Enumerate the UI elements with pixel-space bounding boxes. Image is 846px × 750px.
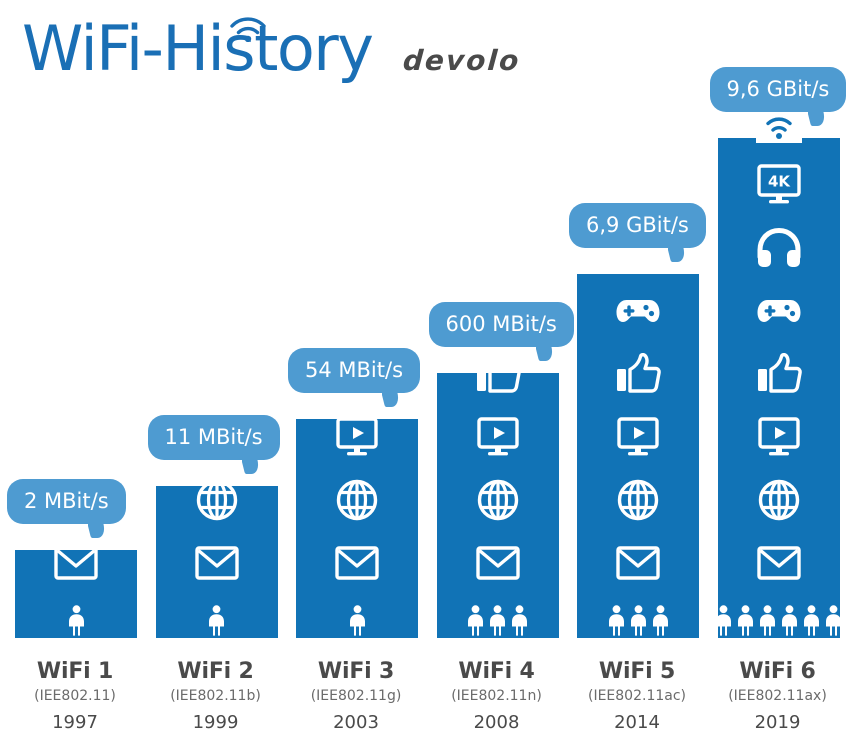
mail-icon [335,531,379,594]
bubble-tail [382,389,404,411]
speed-label: 600 MBit/s [446,312,557,336]
bubble-tail [88,520,110,542]
bar-icon-stack [15,550,137,594]
speed-bubble-wifi-2: 11 MBit/s [148,415,280,460]
category-label: WiFi 1 [5,658,145,686]
mail-icon [476,531,520,594]
person-icon [629,605,648,636]
user-count-row [577,605,699,636]
svg-text:4K: 4K [767,172,790,190]
category-label: WiFi 2 [146,658,286,686]
globe-icon [758,468,800,531]
standard-label: (IEE802.11b) [146,685,286,709]
person-icon [67,605,86,636]
person-icon [488,605,507,636]
person-icon [466,605,485,636]
video-monitor-icon [335,405,379,468]
bubble-tail [536,343,558,365]
user-count-row [718,605,840,636]
thumbs-up-icon [756,342,802,405]
user-count-row [437,605,559,636]
mail-icon [616,531,660,594]
headphones-icon [756,216,802,279]
video-monitor-icon [757,405,801,468]
category-label: WiFi 6 [708,658,846,686]
speed-bubble-wifi-1: 2 MBit/s [7,479,126,524]
user-count-row [156,605,278,636]
thumbs-up-icon [475,342,521,405]
video-monitor-icon [616,405,660,468]
wifi-history-bar-chart: 2 MBit/sWiFi 1(IEE802.11)1997 11 MBit/sW… [0,0,846,750]
speed-label: 6,9 GBit/s [586,213,689,237]
category-label: WiFi 4 [427,658,567,686]
speed-label: 54 MBit/s [305,358,403,382]
bar-icon-stack [296,419,418,594]
bar-wifi-6[interactable]: 4K [718,138,840,638]
standard-label: (IEE802.11ac) [567,685,707,709]
person-icon [510,605,529,636]
mail-icon [195,531,239,594]
year-label: 2014 [567,709,707,736]
bar-wifi-4[interactable] [437,373,559,638]
bar-wifi-3[interactable] [296,419,418,638]
bar-icon-stack [156,486,278,594]
year-label: 2003 [286,709,426,736]
person-icon [780,605,799,636]
bubble-tail [668,244,690,266]
speed-bubble-wifi-6: 9,6 GBit/s [710,67,846,112]
standard-label: (IEE802.11ax) [708,685,846,709]
category-label: WiFi 5 [567,658,707,686]
axis-label-group: WiFi 3(IEE802.11g)2003 [286,658,426,736]
person-icon [824,605,843,636]
speed-bubble-wifi-4: 600 MBit/s [429,302,574,347]
bubble-tail [242,456,264,478]
year-label: 1999 [146,709,286,736]
tv-4k-icon: 4K [756,153,802,216]
gamepad-icon [614,279,662,342]
standard-label: (IEE802.11) [5,685,145,709]
user-count-row [15,605,137,636]
axis-label-group: WiFi 4(IEE802.11n)2008 [427,658,567,736]
speed-label: 9,6 GBit/s [727,77,830,101]
person-icon [736,605,755,636]
bar-wifi-1[interactable] [15,550,137,638]
bubble-tail [808,108,830,130]
speed-bubble-wifi-5: 6,9 GBit/s [569,203,706,248]
standard-label: (IEE802.11n) [427,685,567,709]
globe-icon [196,468,238,531]
year-label: 2008 [427,709,567,736]
person-icon [348,605,367,636]
axis-label-group: WiFi 5(IEE802.11ac)2014 [567,658,707,736]
person-icon [802,605,821,636]
axis-label-group: WiFi 6(IEE802.11ax)2019 [708,658,846,736]
globe-icon [336,468,378,531]
globe-icon [617,468,659,531]
person-icon [714,605,733,636]
person-icon [651,605,670,636]
bar-icon-stack: 4K [718,138,840,594]
video-monitor-icon [476,405,520,468]
speed-bubble-wifi-3: 54 MBit/s [288,348,420,393]
axis-label-group: WiFi 2(IEE802.11b)1999 [146,658,286,736]
mail-icon [757,531,801,594]
category-label: WiFi 3 [286,658,426,686]
bar-icon-stack [437,373,559,594]
thumbs-up-icon [615,342,661,405]
bar-wifi-5[interactable] [577,274,699,638]
gamepad-icon [755,279,803,342]
speed-label: 11 MBit/s [165,425,263,449]
globe-icon [477,468,519,531]
user-count-row [296,605,418,636]
person-icon [207,605,226,636]
standard-label: (IEE802.11g) [286,685,426,709]
bar-icon-stack [577,274,699,594]
speed-label: 2 MBit/s [24,489,109,513]
infographic-root: WiFi-History devolo 2 MBit/sWiFi 1(IEE80… [0,0,846,750]
bar-wifi-2[interactable] [156,486,278,638]
year-label: 2019 [708,709,846,736]
person-icon [607,605,626,636]
year-label: 1997 [5,709,145,736]
axis-label-group: WiFi 1(IEE802.11)1997 [5,658,145,736]
person-icon [758,605,777,636]
